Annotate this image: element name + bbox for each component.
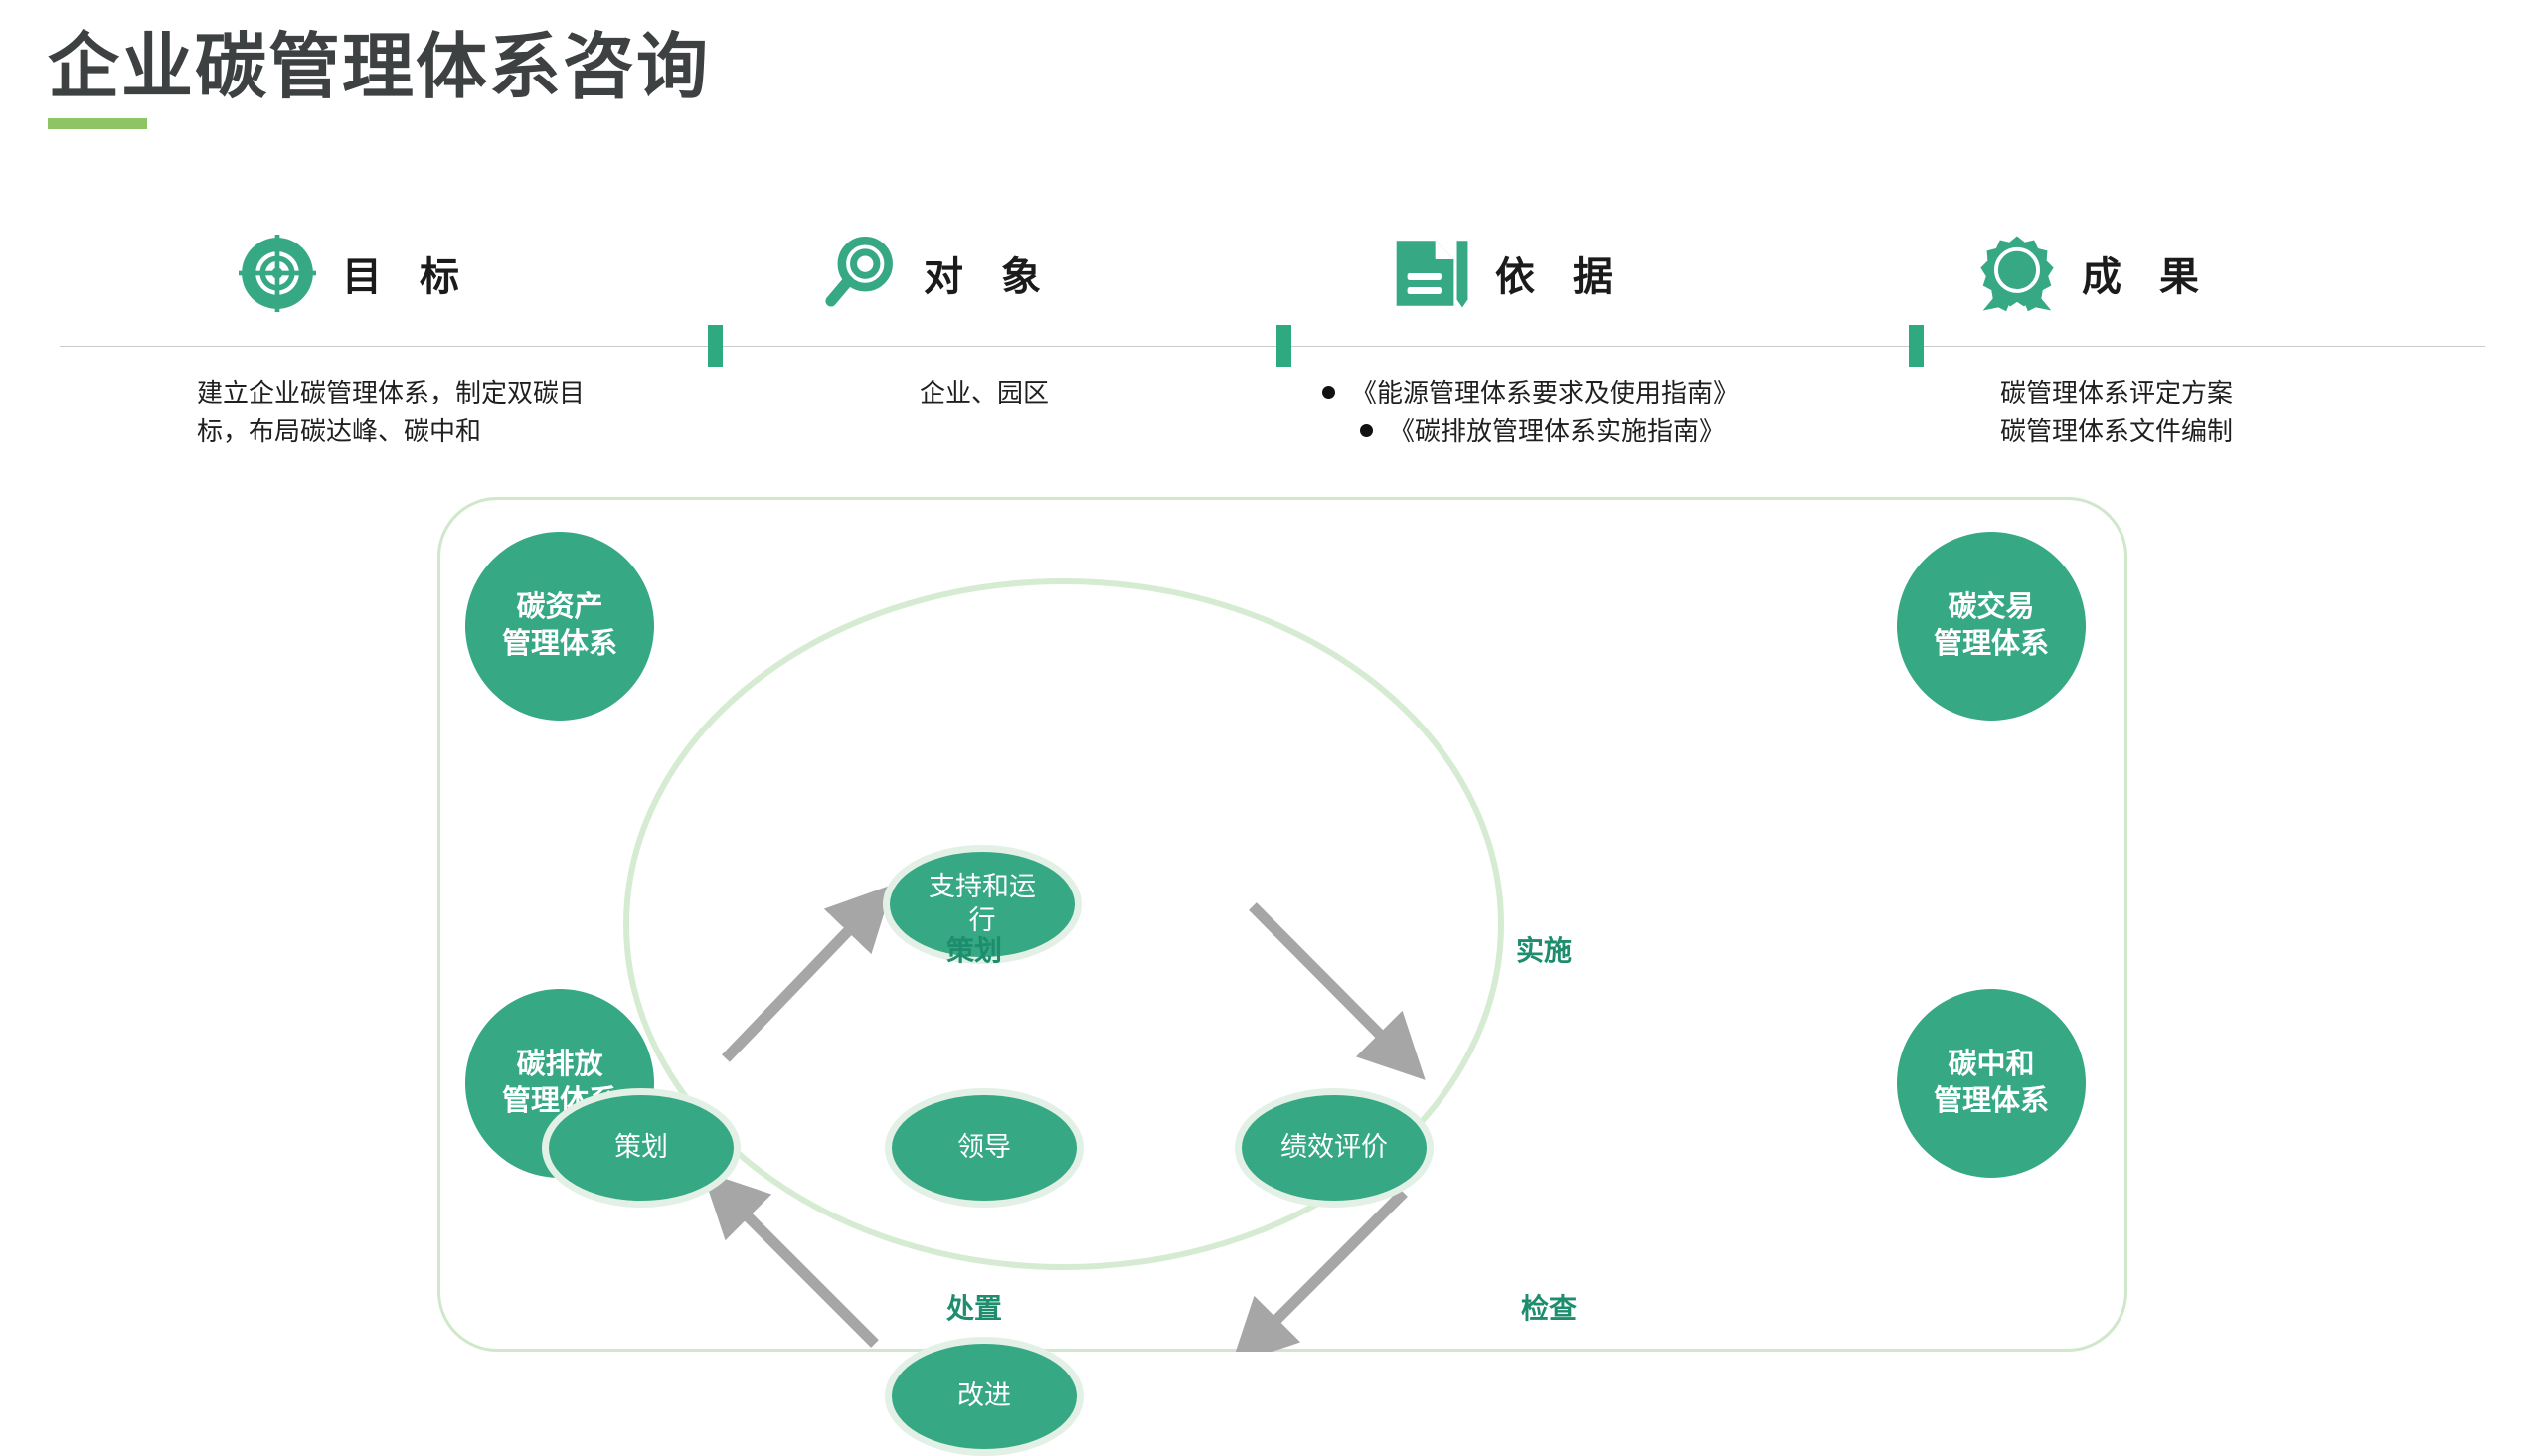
feature-label-object: 对 象 [924, 244, 1055, 302]
feature-desc-line: 标，布局碳达峰、碳中和 [197, 412, 674, 451]
node-label-line: 碳交易 [1948, 591, 2034, 623]
target-icon [239, 235, 316, 312]
node-improvement[interactable]: 改进 [885, 1337, 1084, 1456]
node-label: 碳中和 管理体系 [1934, 1047, 2049, 1120]
feature-header-target: 目 标 [239, 229, 473, 318]
feature-desc-line: 建立企业碳管理体系，制定双碳目 [197, 374, 674, 412]
arrow-improve-to-plan [724, 1193, 875, 1344]
feature-desc-target: 建立企业碳管理体系，制定双碳目 标，布局碳达峰、碳中和 [197, 374, 674, 451]
feature-label-result: 成 果 [2082, 244, 2213, 302]
list-item: 《能源管理体系要求及使用指南》 [1322, 374, 1899, 412]
node-carbon-trading-system[interactable]: 碳交易 管理体系 [1897, 532, 2086, 721]
node-plan[interactable]: 策划 [542, 1088, 741, 1208]
bullet-dot-icon [1322, 386, 1335, 399]
feature-label-target: 目 标 [342, 244, 473, 302]
node-carbon-neutral-system[interactable]: 碳中和 管理体系 [1897, 989, 2086, 1178]
feature-header-result: 成 果 [1978, 229, 2213, 318]
node-label-line: 碳中和 [1948, 1049, 2034, 1080]
node-label: 碳交易 管理体系 [1934, 589, 2049, 663]
edge-label-dispose: 处置 [946, 1287, 1002, 1327]
bullet-dot-icon [1360, 424, 1373, 437]
node-label: 领导 [957, 1131, 1011, 1165]
node-leadership[interactable]: 领导 [885, 1088, 1084, 1208]
carbon-management-diagram: 碳资产 管理体系 碳交易 管理体系 碳排放 管理体系 碳中和 管理体系 支持和运… [437, 497, 2127, 1352]
magnifier-icon [820, 235, 898, 312]
feature-header-object: 对 象 [820, 229, 1055, 318]
list-item: 《碳排放管理体系实施指南》 [1322, 412, 1899, 451]
node-label: 改进 [957, 1379, 1011, 1413]
edge-label-check: 检查 [1521, 1287, 1577, 1327]
node-label-line: 碳资产 [516, 591, 602, 623]
node-label: 支持和运 行 [929, 871, 1036, 938]
feature-label-basis: 依 据 [1495, 244, 1626, 302]
document-icon [1392, 235, 1469, 312]
feature-desc-result: 碳管理体系评定方案 碳管理体系文件编制 [2000, 374, 2398, 451]
feature-header-basis: 依 据 [1392, 229, 1626, 318]
divider-tick-2 [1276, 325, 1291, 367]
feature-desc-object: 企业、园区 [920, 374, 1297, 412]
edge-label-implement: 实施 [1516, 929, 1572, 969]
divider-tick-3 [1909, 325, 1924, 367]
feature-desc-basis: 《能源管理体系要求及使用指南》 《碳排放管理体系实施指南》 [1322, 374, 1899, 451]
node-label: 策划 [614, 1131, 668, 1165]
page-title: 企业碳管理体系咨询 [48, 28, 710, 108]
feature-desc-line: 《碳排放管理体系实施指南》 [1389, 416, 1725, 446]
node-label: 碳资产 管理体系 [502, 589, 617, 663]
node-label: 绩效评价 [1280, 1131, 1388, 1165]
feature-desc-line: 碳管理体系文件编制 [2000, 412, 2398, 451]
feature-desc-line: 企业、园区 [920, 374, 1297, 412]
title-block: 企业碳管理体系咨询 [48, 28, 710, 129]
node-performance-evaluation[interactable]: 绩效评价 [1235, 1088, 1434, 1208]
edge-label-plan: 策划 [946, 929, 1002, 969]
node-label-line: 管理体系 [1934, 628, 2049, 660]
divider-line [60, 346, 2485, 347]
node-carbon-asset-system[interactable]: 碳资产 管理体系 [465, 532, 654, 721]
node-label-line: 管理体系 [1934, 1085, 2049, 1117]
feature-header-row: 目 标 对 象 依 据 [0, 214, 2545, 343]
arrow-support-to-performance [1253, 906, 1404, 1058]
title-underline-bar [48, 118, 147, 129]
node-label-line: 管理体系 [502, 628, 617, 660]
diagram-vector-layer [437, 497, 2127, 1352]
feature-desc-line: 碳管理体系评定方案 [2000, 374, 2398, 412]
node-label-line: 碳排放 [516, 1049, 602, 1080]
award-icon [1978, 235, 2056, 312]
arrow-plan-to-support [726, 906, 872, 1058]
feature-desc-line: 《能源管理体系要求及使用指南》 [1351, 378, 1739, 407]
divider-tick-1 [708, 325, 723, 367]
arrow-performance-to-improve [1253, 1193, 1404, 1344]
